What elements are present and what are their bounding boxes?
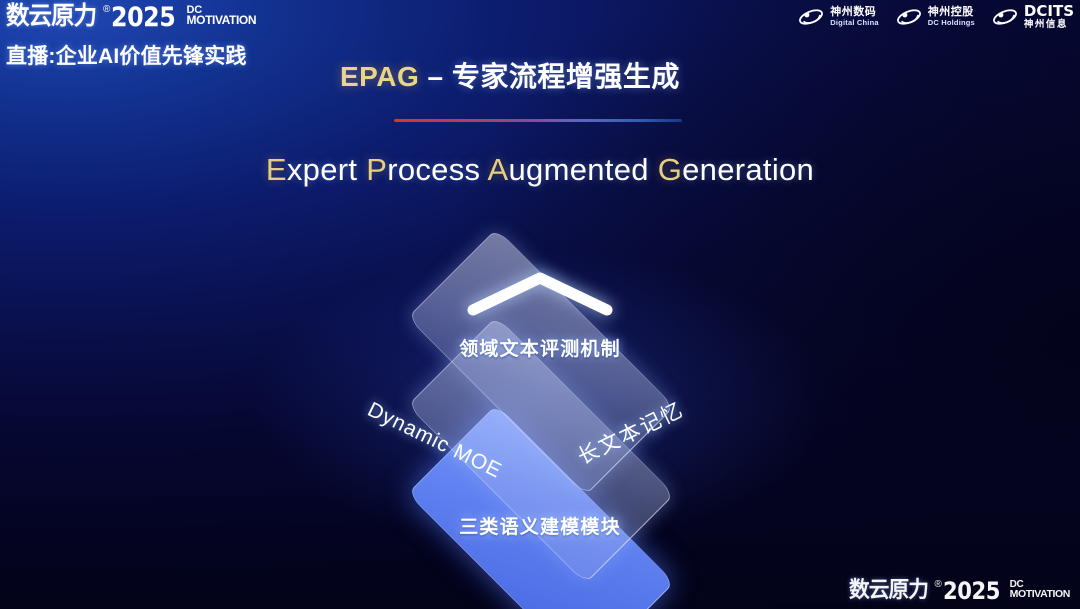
watermark-registered-mark: ® <box>934 580 941 590</box>
slide-title-chinese: 专家流程增强生成 <box>452 61 680 92</box>
swirl-logo-icon <box>797 6 825 28</box>
subtitle-part-ugmented: ugmented <box>509 152 658 187</box>
slide-subtitle: Expert Process Augmented Generation <box>0 152 1080 188</box>
slide-title-acronym: EPAG <box>340 61 419 92</box>
header-left: 数云原力 ® 2025 DC MOTIVATION 直播:企业AI价值先锋实践 <box>6 4 326 70</box>
partner-name-cn: 神州数码 <box>830 7 878 19</box>
slide-title-separator: – <box>419 61 452 92</box>
partner-logo-digital-china: 神州数码 Digital China <box>797 6 878 28</box>
subtitle-part-xpert: xpert <box>287 152 366 187</box>
watermark-brand-name-cn: 数云原力 <box>849 579 928 601</box>
subtitle-part-a: A <box>488 152 509 187</box>
swirl-logo-icon <box>991 6 1019 28</box>
layer-stack-diagram <box>540 236 541 237</box>
partner-name-cn: 神州控股 <box>928 7 975 19</box>
brand-name-cn: 数云原力 <box>6 4 96 29</box>
brand-logo: 数云原力 ® 2025 DC MOTIVATION <box>6 4 326 31</box>
slide-title: EPAG – 专家流程增强生成 <box>340 55 680 95</box>
subtitle-part-rocess: rocess <box>387 152 487 187</box>
subtitle-part-eneration: eneration <box>682 152 814 187</box>
watermark-dc-motivation: DC MOTIVATION <box>1010 580 1070 599</box>
slide-stage: 数云原力 ® 2025 DC MOTIVATION 直播:企业AI价值先锋实践 … <box>0 0 1080 609</box>
partner-logo-dc-holdings: 神州控股 DC Holdings <box>895 6 975 28</box>
partner-name-en: DC Holdings <box>928 19 975 27</box>
partner-name-cn: DCITS <box>1024 4 1074 20</box>
footer-watermark: 数云原力 ® 2025 DC MOTIVATION <box>849 579 1070 603</box>
watermark-brand-logo: 数云原力 ® 2025 DC MOTIVATION <box>849 579 1070 603</box>
partner-name-en: 神州信息 <box>1024 20 1074 30</box>
brand-year: 2025 <box>111 4 175 31</box>
brand-dc-motivation: DC MOTIVATION <box>187 5 257 27</box>
partner-name-en: Digital China <box>830 19 878 27</box>
subtitle-part-e: E <box>266 152 287 187</box>
subtitle-part-p: P <box>366 152 387 187</box>
subtitle-part-g: G <box>658 152 682 187</box>
partner-logos: 神州数码 Digital China 神州控股 DC Holdings <box>797 4 1074 30</box>
title-divider <box>394 119 682 122</box>
brand-motivation-label: MOTIVATION <box>187 15 257 26</box>
watermark-motivation-label: MOTIVATION <box>1010 590 1070 600</box>
watermark-brand-year: 2025 <box>943 579 1000 603</box>
partner-logo-dcits: DCITS 神州信息 <box>991 4 1074 30</box>
live-title: 直播:企业AI价值先锋实践 <box>6 40 326 70</box>
brand-registered-mark: ® <box>103 5 110 15</box>
swirl-logo-icon <box>895 6 923 28</box>
